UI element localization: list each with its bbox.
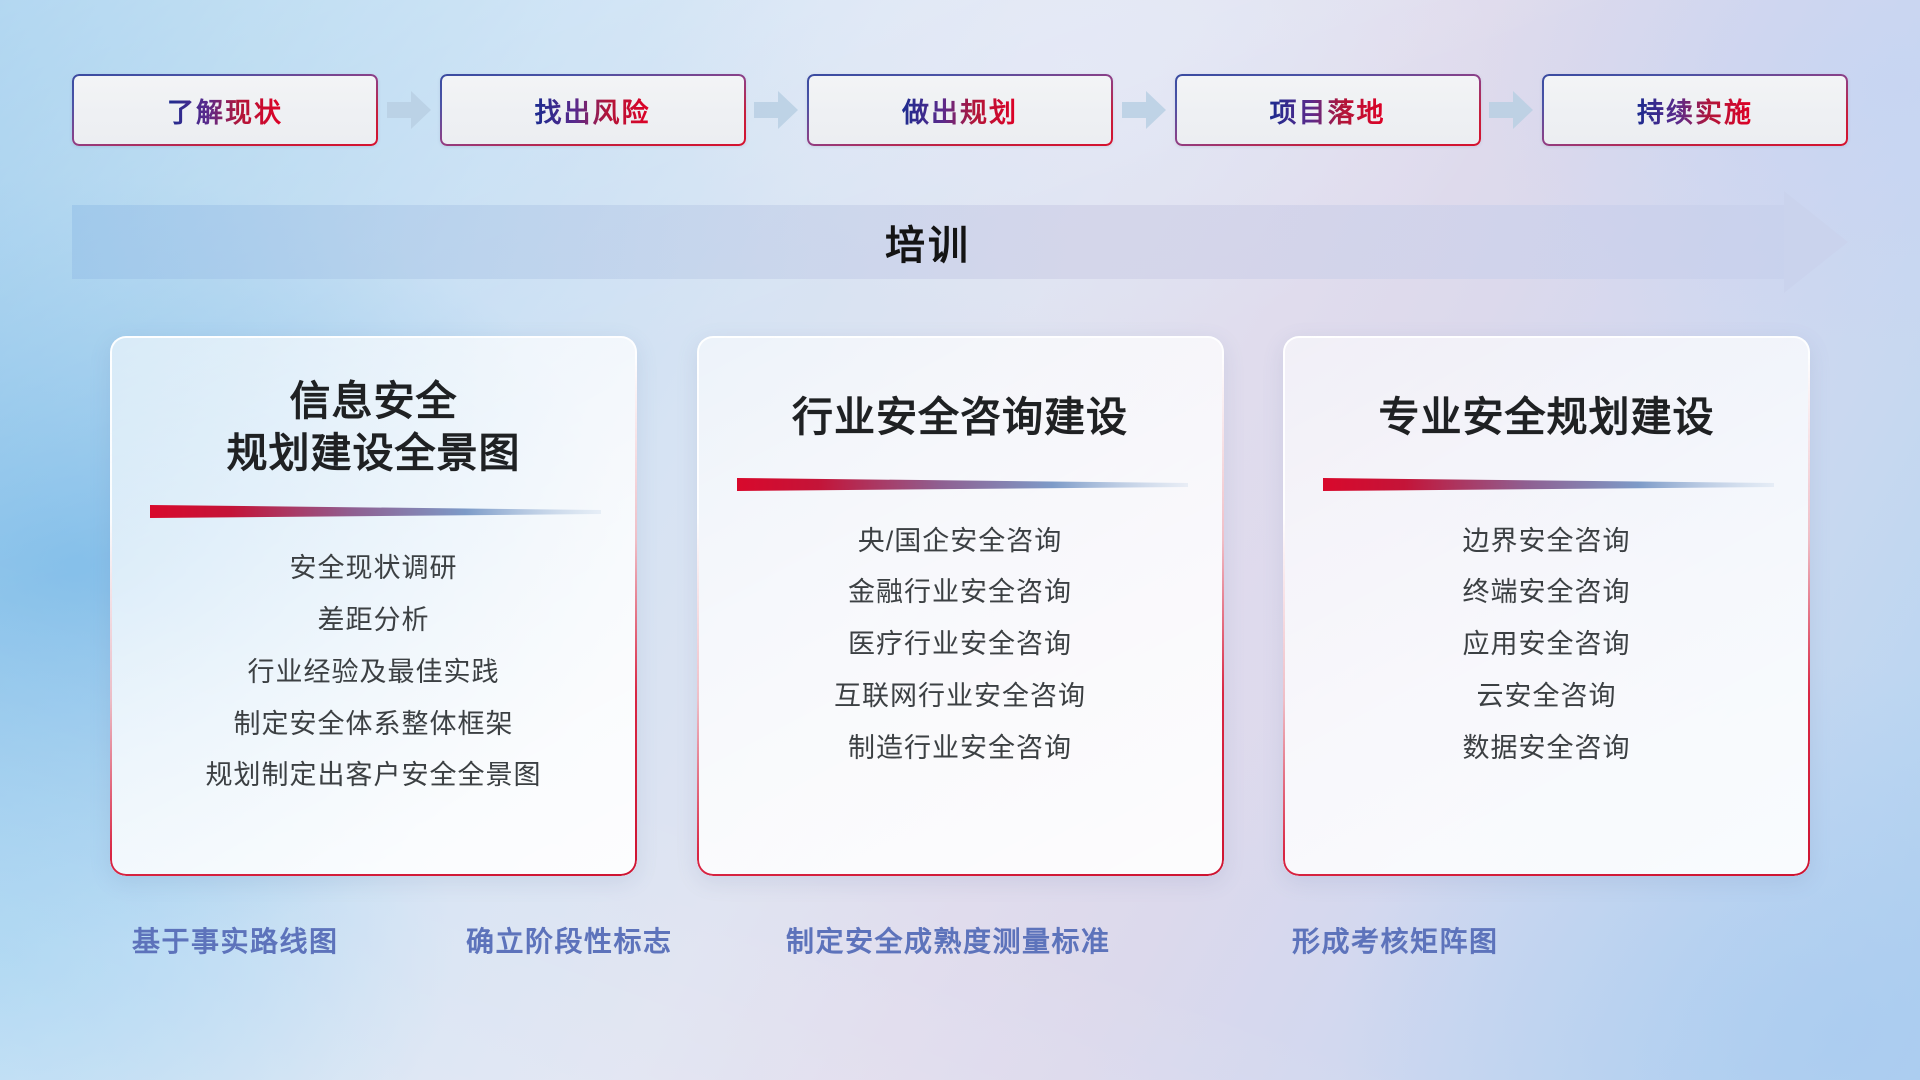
process-step-label: 持续实施: [1637, 91, 1753, 130]
arrow-right-icon: [754, 91, 798, 129]
process-step-label: 做出规划: [902, 91, 1018, 130]
caption-row: 基于事实路线图 确立阶段性标志 制定安全成熟度测量标准 形成考核矩阵图: [0, 920, 1920, 970]
gradient-rule-icon: [1319, 474, 1774, 496]
card-industry-security-consulting[interactable]: 行业安全咨询建设 央/国企安全咨询 金融行业安全咨询 医疗行业安全咨询: [697, 336, 1224, 876]
card-item-list: 边界安全咨询 终端安全咨询 应用安全咨询 云安全咨询 数据安全咨询: [1463, 520, 1631, 771]
list-item: 安全现状调研: [290, 547, 458, 591]
banner-arrow-icon: [1784, 191, 1848, 293]
slide-canvas: 了解现状 找出风险 做出规划 项目落地 持续实施 培训: [0, 0, 1920, 1080]
card-professional-security-planning[interactable]: 专业安全规划建设 边界安全咨询 终端安全咨询 应用安全咨询: [1283, 336, 1810, 876]
caption-matrix: 形成考核矩阵图: [1292, 920, 1499, 960]
gradient-rule-icon: [733, 474, 1188, 496]
card-item-list: 央/国企安全咨询 金融行业安全咨询 医疗行业安全咨询 互联网行业安全咨询 制造行…: [834, 520, 1086, 771]
process-step-5[interactable]: 持续实施: [1542, 74, 1848, 146]
caption-roadmap: 基于事实路线图: [132, 920, 339, 960]
banner-title: 培训: [72, 205, 1784, 279]
process-step-label: 找出风险: [535, 91, 651, 130]
caption-milestone: 确立阶段性标志: [466, 920, 673, 960]
list-item: 规划制定出客户安全全景图: [206, 754, 542, 798]
card-title: 行业安全咨询建设: [792, 392, 1128, 444]
list-item: 行业经验及最佳实践: [248, 651, 500, 695]
caption-maturity: 制定安全成熟度测量标准: [786, 920, 1111, 960]
card-item-list: 安全现状调研 差距分析 行业经验及最佳实践 制定安全体系整体框架 规划制定出客户…: [206, 547, 542, 798]
arrow-right-icon: [387, 91, 431, 129]
card-information-security-blueprint[interactable]: 信息安全 规划建设全景图 安全现状调研 差距分析 行业经验及最佳实践: [110, 336, 637, 876]
process-step-2[interactable]: 找出风险: [440, 74, 746, 146]
training-banner: 培训: [72, 205, 1848, 279]
list-item: 制造行业安全咨询: [848, 727, 1072, 771]
list-item: 金融行业安全咨询: [848, 571, 1072, 615]
process-step-1[interactable]: 了解现状: [72, 74, 378, 146]
list-item: 应用安全咨询: [1463, 623, 1631, 667]
list-item: 制定安全体系整体框架: [234, 703, 514, 747]
process-step-flow: 了解现状 找出风险 做出规划 项目落地 持续实施: [72, 74, 1848, 146]
list-item: 央/国企安全咨询: [858, 520, 1063, 564]
arrow-right-icon: [1489, 91, 1533, 129]
list-item: 差距分析: [318, 599, 430, 643]
card-title: 专业安全规划建设: [1379, 392, 1715, 444]
list-item: 数据安全咨询: [1463, 727, 1631, 771]
process-step-4[interactable]: 项目落地: [1175, 74, 1481, 146]
list-item: 医疗行业安全咨询: [848, 623, 1072, 667]
card-title: 信息安全 规划建设全景图: [227, 376, 521, 479]
process-step-label: 了解现状: [167, 91, 283, 130]
gradient-rule-icon: [146, 501, 601, 523]
list-item: 边界安全咨询: [1463, 520, 1631, 564]
process-step-label: 项目落地: [1270, 91, 1386, 130]
list-item: 云安全咨询: [1477, 675, 1617, 719]
process-step-3[interactable]: 做出规划: [807, 74, 1113, 146]
card-row: 信息安全 规划建设全景图 安全现状调研 差距分析 行业经验及最佳实践: [110, 336, 1810, 876]
list-item: 终端安全咨询: [1463, 571, 1631, 615]
arrow-right-icon: [1122, 91, 1166, 129]
list-item: 互联网行业安全咨询: [834, 675, 1086, 719]
